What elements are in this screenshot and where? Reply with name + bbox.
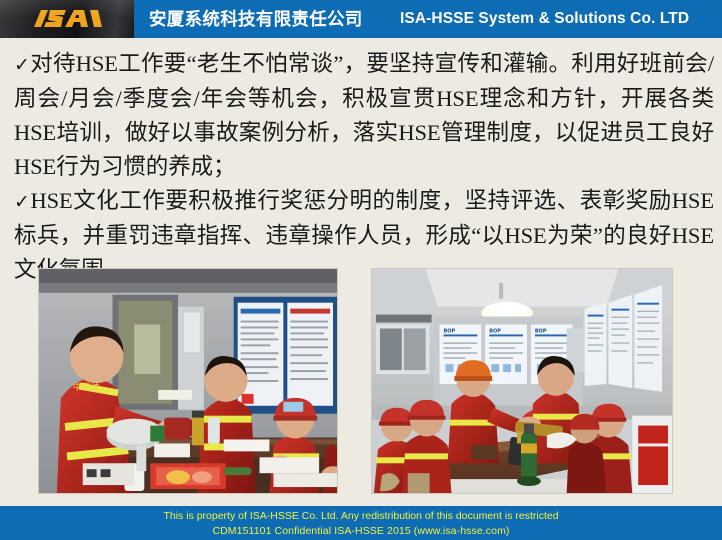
header-company-name-en: ISA-HSSE System & Solutions Co. LTD — [400, 0, 689, 38]
logo-panel — [0, 0, 134, 38]
check-icon-1: ✓ — [14, 54, 30, 76]
slide-canvas: 安厦系统科技有限责任公司 ISA-HSSE System & Solutions… — [0, 0, 722, 540]
footer-document-id-line: CDM151101 Confidential ISA-HSSE 2015 (ww… — [0, 524, 722, 539]
bullet-paragraph-1: ✓对待HSE工作要“老生不怕常谈”，要坚持宣传和灌输。利用好班前会/周会/月会/… — [14, 47, 714, 184]
photo-award-handshake-image: 中石油 — [39, 269, 337, 493]
photo-safety-meeting-image: BOPBOPBOP — [372, 269, 672, 493]
bullet-paragraph-1-text: 对待HSE工作要“老生不怕常谈”，要坚持宣传和灌输。利用好班前会/周会/月会/季… — [14, 51, 714, 179]
slide-footer: This is property of ISA-HSSE Co. Ltd. An… — [0, 506, 722, 540]
photo-award-handshake: 中石油 — [38, 268, 338, 494]
svg-text:BOP: BOP — [489, 328, 501, 334]
svg-text:BOP: BOP — [535, 328, 547, 334]
photo-safety-meeting: BOPBOPBOP — [371, 268, 673, 494]
slide-body: ✓对待HSE工作要“老生不怕常谈”，要坚持宣传和灌输。利用好班前会/周会/月会/… — [14, 47, 714, 287]
svg-text:BOP: BOP — [444, 328, 456, 334]
svg-text:中石油: 中石油 — [73, 381, 100, 393]
slide-header: 安厦系统科技有限责任公司 ISA-HSSE System & Solutions… — [0, 0, 722, 38]
check-icon-2: ✓ — [14, 191, 30, 213]
header-company-name-cn: 安厦系统科技有限责任公司 — [149, 0, 363, 38]
footer-copyright-line: This is property of ISA-HSSE Co. Ltd. An… — [0, 506, 722, 524]
isa-logo-icon — [32, 7, 104, 31]
